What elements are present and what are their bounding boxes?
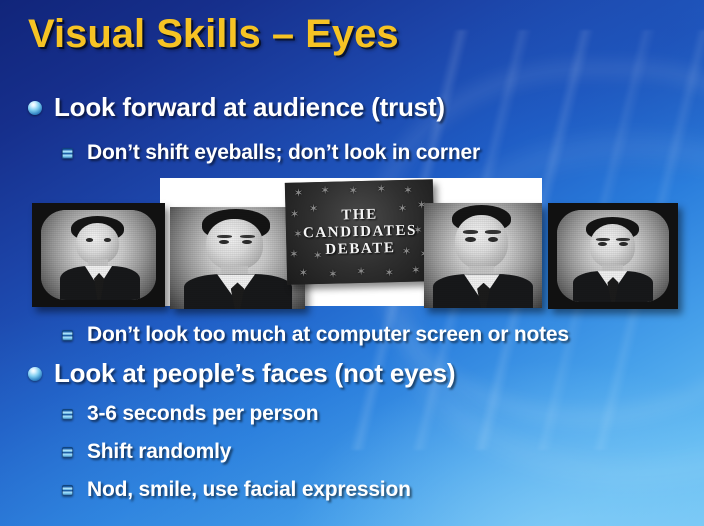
bullet-item-2: Don’t shift eyeballs; don’t look in corn… <box>62 141 480 165</box>
photo-grain <box>557 210 669 301</box>
nixon-on-television-photo <box>548 203 678 309</box>
bullet-text-1: Look forward at audience (trust) <box>54 92 445 123</box>
candidates-debate-title-card: ✶ ✶ ✶ ✶ ✶ ✶ ✶ ✶ ✶ ✶ ✶ ✶ ✶ ✶ ✶ ✶ ✶ ✶ ✶ ✶ … <box>285 179 435 285</box>
bullet-item-3: Don’t look too much at computer screen o… <box>62 323 569 347</box>
bullet-item-5: 3-6 seconds per person <box>62 402 318 426</box>
photo-grain <box>41 210 155 299</box>
blue-square-bullet-icon <box>62 409 73 420</box>
jfk-on-television-photo <box>32 203 165 307</box>
card-line-3: DEBATE <box>325 241 396 258</box>
bullet-item-4: Look at people’s faces (not eyes) <box>28 358 455 389</box>
bullet-item-7: Nod, smile, use facial expression <box>62 478 411 502</box>
nixon-portrait-photo <box>424 203 542 308</box>
blue-sphere-bullet-icon <box>28 367 42 381</box>
blue-square-bullet-icon <box>62 148 73 159</box>
card-line-1: THE <box>341 207 378 223</box>
blue-sphere-bullet-icon <box>28 101 42 115</box>
photo-collage: ✶ ✶ ✶ ✶ ✶ ✶ ✶ ✶ ✶ ✶ ✶ ✶ ✶ ✶ ✶ ✶ ✶ ✶ ✶ ✶ … <box>0 170 704 310</box>
bullet-text-6: Shift randomly <box>87 440 231 464</box>
presentation-slide: Visual Skills – Eyes Look forward at aud… <box>0 0 704 526</box>
bullet-text-5: 3-6 seconds per person <box>87 402 318 426</box>
blue-square-bullet-icon <box>62 447 73 458</box>
bullet-item-6: Shift randomly <box>62 440 231 464</box>
bullet-text-4: Look at people’s faces (not eyes) <box>54 358 455 389</box>
bullet-text-2: Don’t shift eyeballs; don’t look in corn… <box>87 141 480 165</box>
tv-screen-area <box>41 210 155 299</box>
card-text-block: THE CANDIDATES DEBATE <box>285 179 435 285</box>
blue-square-bullet-icon <box>62 485 73 496</box>
photo-grain <box>424 203 542 308</box>
bullet-text-3: Don’t look too much at computer screen o… <box>87 323 569 347</box>
blue-square-bullet-icon <box>62 330 73 341</box>
bullet-text-7: Nod, smile, use facial expression <box>87 478 411 502</box>
tv-screen-area <box>557 210 669 301</box>
slide-title: Visual Skills – Eyes <box>28 12 399 57</box>
bullet-item-1: Look forward at audience (trust) <box>28 92 445 123</box>
card-line-2: CANDIDATES <box>303 223 417 241</box>
